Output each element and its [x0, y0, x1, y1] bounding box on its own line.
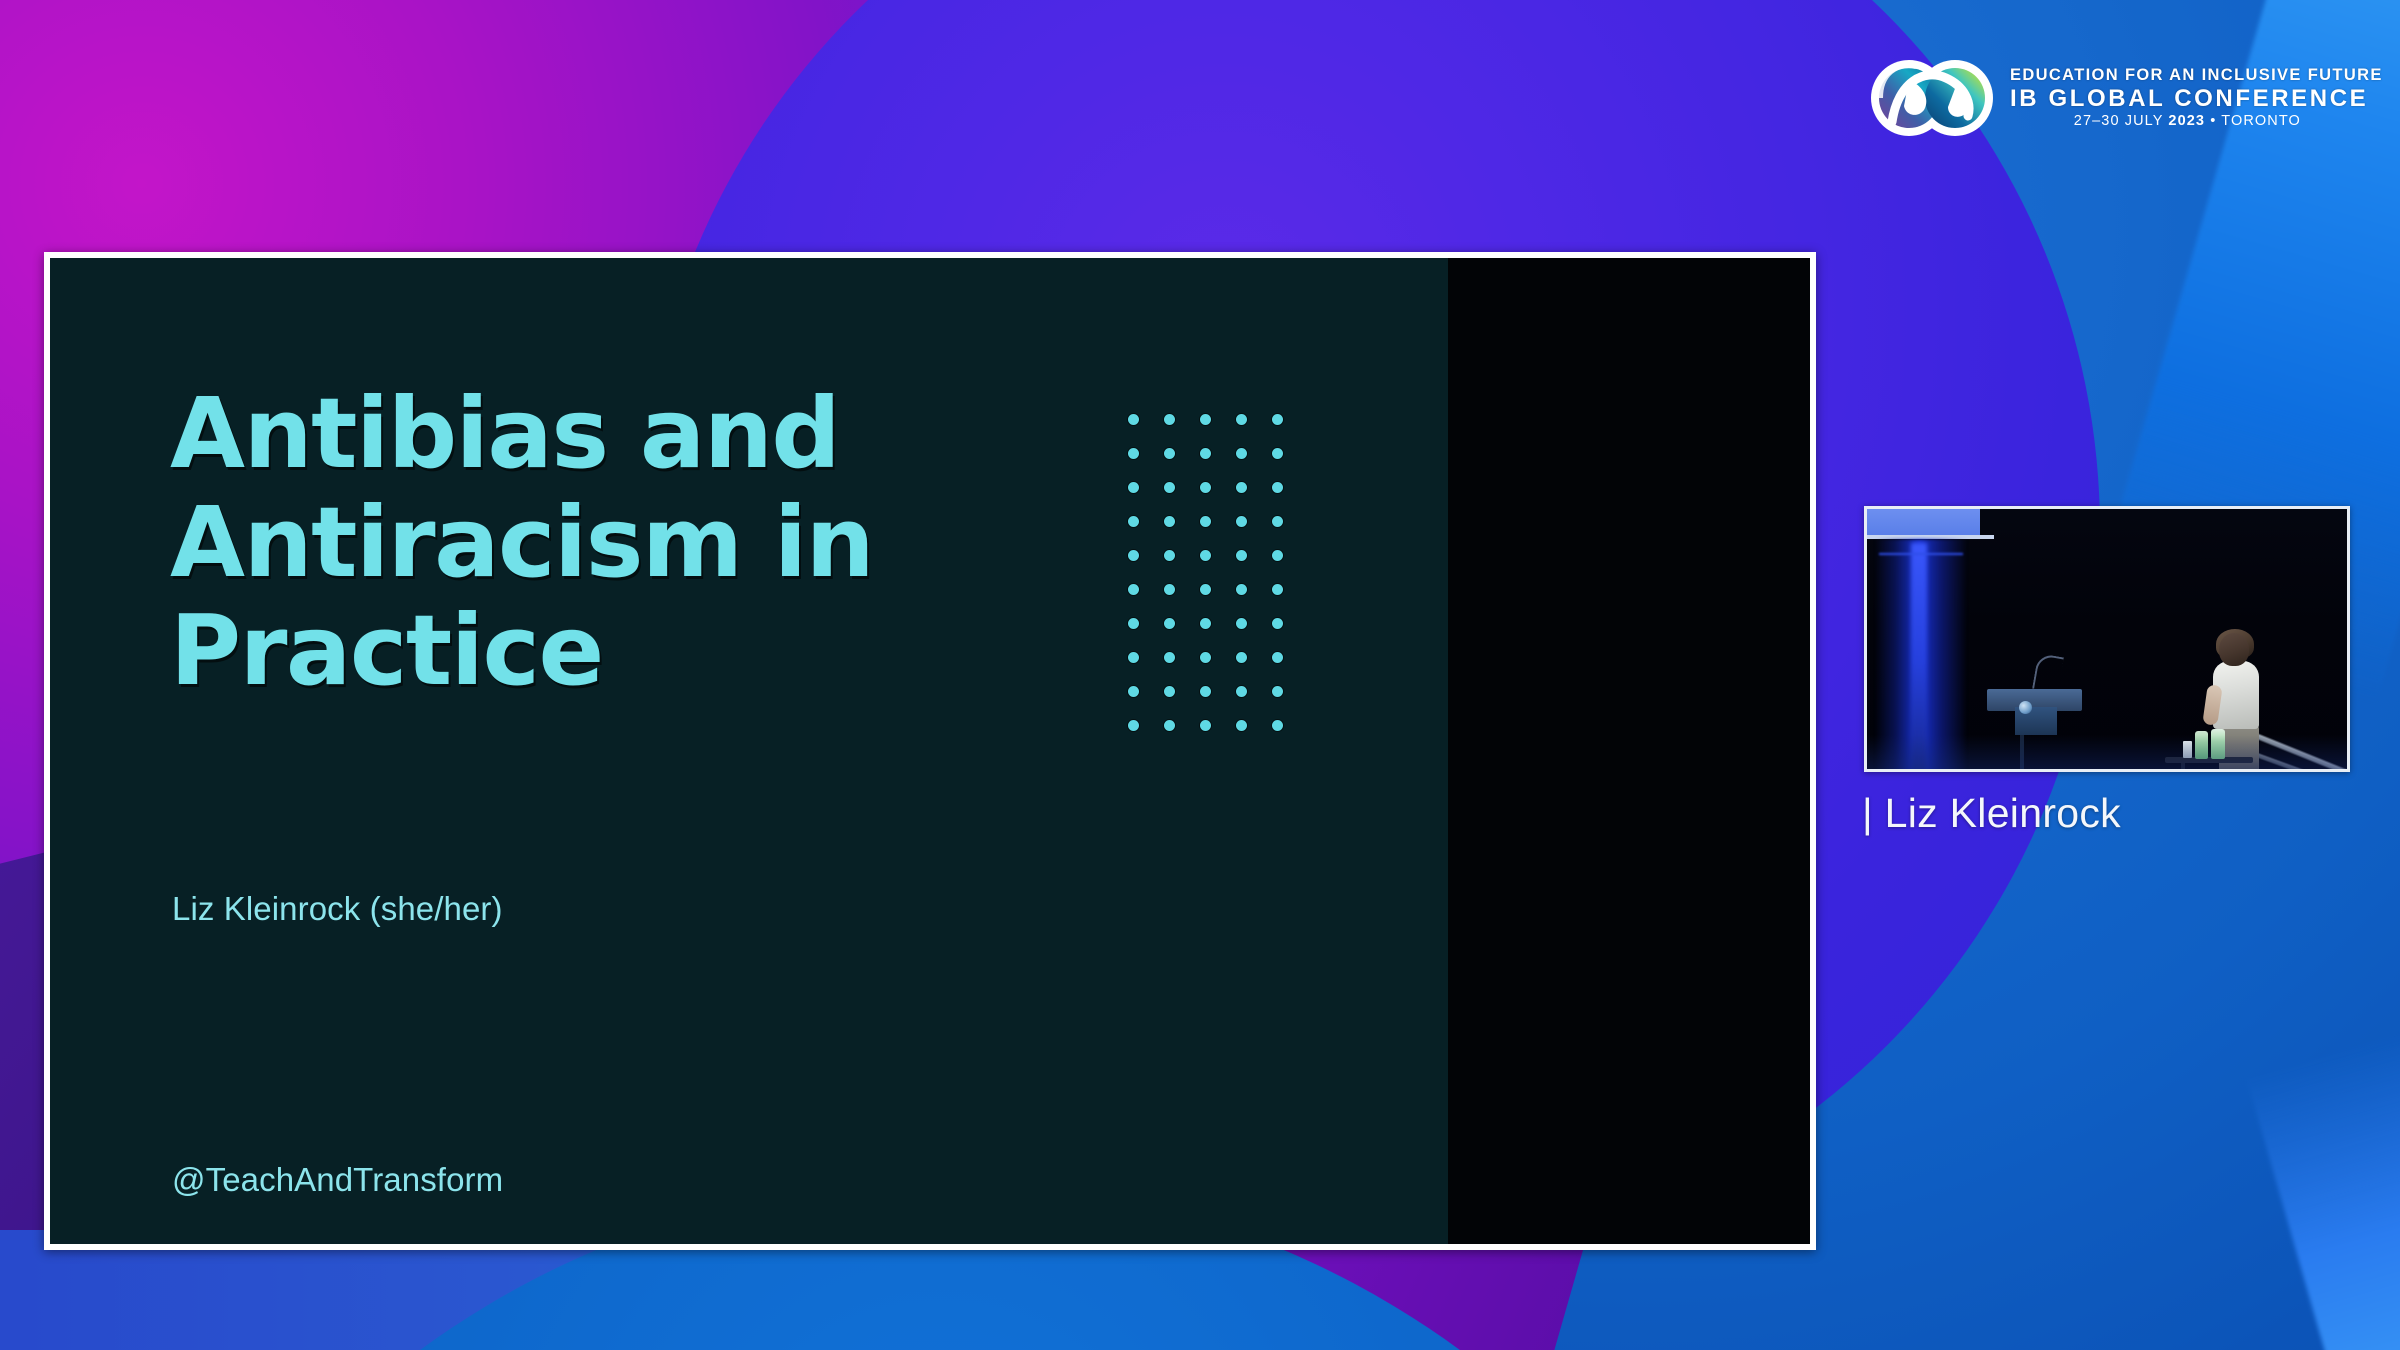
speaker-video-thumbnail[interactable]: [1864, 506, 2350, 772]
grid-dot: [1200, 720, 1211, 731]
grid-dot: [1164, 618, 1175, 629]
grid-dot: [1272, 482, 1283, 493]
conference-year: 2023: [2168, 113, 2205, 129]
speaker-name-label: | Liz Kleinrock: [1862, 790, 2121, 837]
conference-logo: EDUCATION FOR AN INCLUSIVE FUTURE IB GLO…: [1868, 52, 2383, 144]
grid-dot: [1128, 584, 1139, 595]
conference-location: TORONTO: [2221, 113, 2301, 129]
grid-dot: [1164, 482, 1175, 493]
grid-dot: [1200, 448, 1211, 459]
grid-dot: [1236, 550, 1247, 561]
microphone-icon: [2032, 653, 2064, 693]
grid-dot: [1164, 720, 1175, 731]
grid-dot: [1236, 584, 1247, 595]
grid-dot: [1128, 652, 1139, 663]
grid-dot: [1128, 618, 1139, 629]
stage-floor-glow: [1867, 735, 2347, 769]
slide-dark-panel: [1448, 258, 1810, 1244]
grid-dot: [1128, 550, 1139, 561]
grid-dot: [1272, 448, 1283, 459]
grid-dot: [1164, 652, 1175, 663]
grid-dot: [1128, 686, 1139, 697]
grid-dot: [1236, 618, 1247, 629]
grid-dot: [1200, 414, 1211, 425]
grid-dot: [1200, 482, 1211, 493]
grid-dot: [1164, 516, 1175, 527]
stage-scene: [1867, 509, 2347, 769]
grid-dot: [1128, 516, 1139, 527]
grid-dot: [1236, 652, 1247, 663]
speaker-head: [2219, 633, 2249, 666]
grid-dot: [1236, 720, 1247, 731]
grid-dot: [1200, 550, 1211, 561]
conference-logo-text: EDUCATION FOR AN INCLUSIVE FUTURE IB GLO…: [2010, 67, 2383, 128]
grid-dot: [1272, 516, 1283, 527]
grid-dot: [1164, 686, 1175, 697]
slide-frame[interactable]: Antibias and Antiracism in Practice Liz …: [44, 252, 1816, 1250]
grid-dot: [1272, 584, 1283, 595]
grid-dot: [1164, 414, 1175, 425]
slide-title: Antibias and Antiracism in Practice: [170, 380, 1260, 706]
grid-dot: [1128, 414, 1139, 425]
slide-dot-grid-decoration: [1128, 414, 1308, 754]
ib-infinity-logo-icon: [1868, 52, 1996, 144]
grid-dot: [1272, 618, 1283, 629]
grid-dot: [1272, 414, 1283, 425]
grid-dot: [1200, 516, 1211, 527]
grid-dot: [1236, 516, 1247, 527]
grid-dot: [1164, 584, 1175, 595]
grid-dot: [1236, 686, 1247, 697]
slide-canvas: Antibias and Antiracism in Practice Liz …: [50, 258, 1810, 1244]
grid-dot: [1272, 550, 1283, 561]
grid-dot: [1164, 448, 1175, 459]
stage-light-edge: [1879, 553, 1963, 555]
podium-logo: [2019, 701, 2032, 714]
grid-dot: [1128, 720, 1139, 731]
grid-dot: [1272, 686, 1283, 697]
grid-dot: [1236, 414, 1247, 425]
presentation-viewer: EDUCATION FOR AN INCLUSIVE FUTURE IB GLO…: [0, 0, 2400, 1350]
conference-tagline: EDUCATION FOR AN INCLUSIVE FUTURE: [2010, 67, 2383, 84]
grid-dot: [1128, 448, 1139, 459]
grid-dot: [1272, 652, 1283, 663]
grid-dot: [1236, 448, 1247, 459]
slide-social-handle: @TeachAndTransform: [172, 1161, 503, 1199]
grid-dot: [1164, 550, 1175, 561]
grid-dot: [1272, 720, 1283, 731]
conference-separator: •: [2205, 113, 2221, 129]
conference-name: IB GLOBAL CONFERENCE: [2010, 86, 2383, 112]
conference-dates: 27–30 JULY: [2074, 113, 2169, 129]
grid-dot: [1128, 482, 1139, 493]
grid-dot: [1236, 482, 1247, 493]
grid-dot: [1200, 686, 1211, 697]
grid-dot: [1200, 584, 1211, 595]
screen-glow-topbar: [1867, 509, 1980, 535]
grid-dot: [1200, 652, 1211, 663]
conference-dates-location: 27–30 JULY 2023 • TORONTO: [2010, 114, 2383, 129]
slide-presenter: Liz Kleinrock (she/her): [172, 890, 503, 928]
grid-dot: [1200, 618, 1211, 629]
